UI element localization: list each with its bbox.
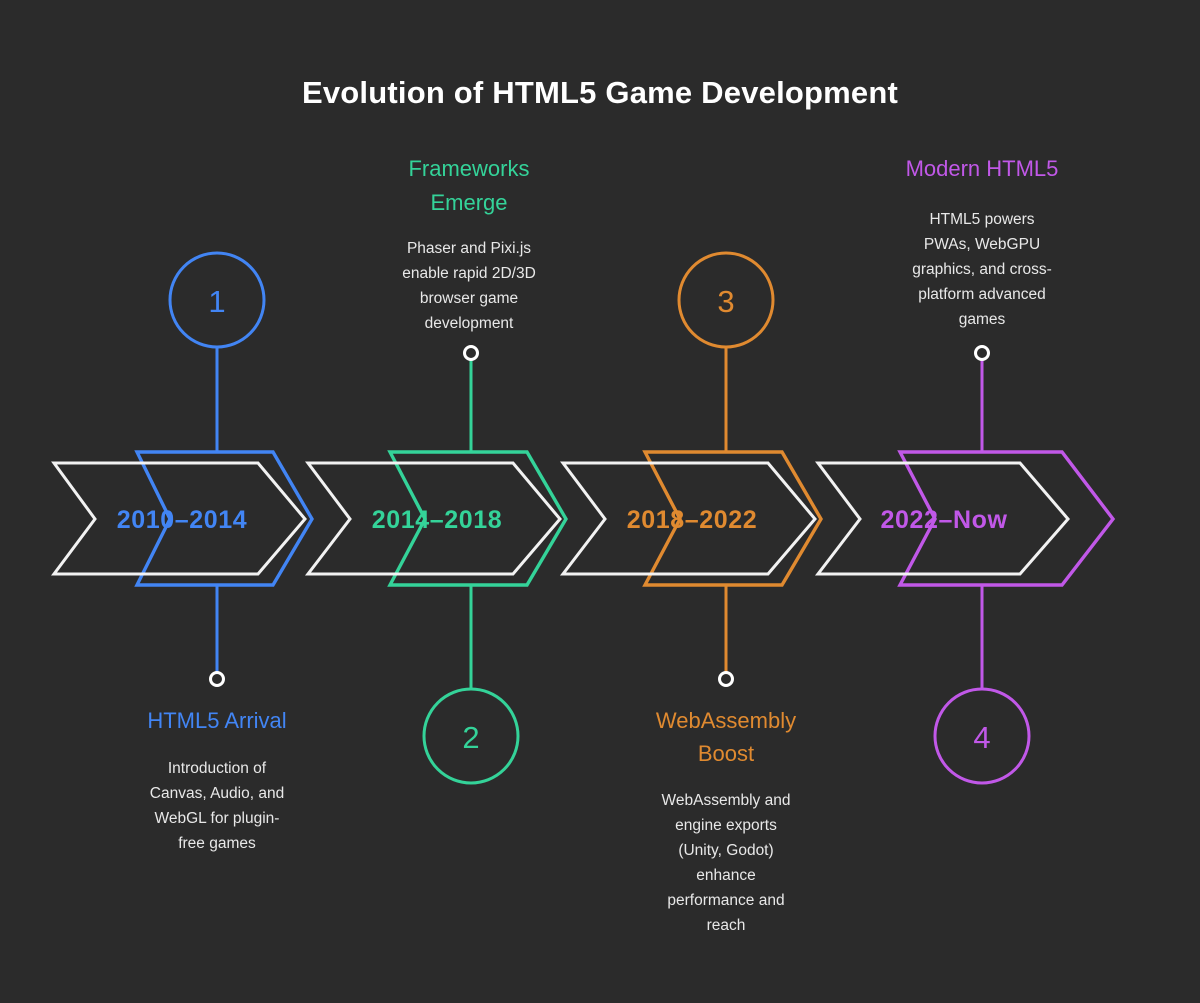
milestone-title-line-3-0: WebAssembly [656,708,796,733]
milestone-desc-line-2-1: enable rapid 2D/3D [402,265,536,282]
milestone-desc-line-3-2: (Unity, Godot) [678,842,773,859]
connector-endpoint-marker-2 [465,347,478,360]
milestone-desc-line-3-5: reach [707,917,746,934]
milestone-desc-line-4-3: platform advanced [918,286,1046,303]
step-number-1: 1 [208,284,225,319]
milestone-title-line-3-1: Boost [698,741,754,766]
timeline-segment-2[interactable]: 2014–2018 Frameworks Emerge Phaser and P… [308,156,566,783]
milestone-desc-line-2-2: browser game [420,290,518,307]
timeline-segment-3[interactable]: 2018–2022 3 WebAssembly Boost WebAssembl… [563,253,821,934]
milestone-desc-line-2-3: development [425,315,514,332]
connector-endpoint-marker-4 [976,347,989,360]
step-number-2: 2 [462,720,479,755]
milestone-desc-line-1-2: WebGL for plugin- [155,810,280,827]
period-label-1: 2010–2014 [117,506,248,534]
milestone-title-1: HTML5 Arrival [147,708,286,733]
page-title: Evolution of HTML5 Game Development [302,75,898,110]
milestone-desc-line-3-0: WebAssembly and [662,792,791,809]
step-number-4: 4 [973,720,990,755]
milestone-desc-line-3-3: enhance [696,867,755,884]
connector-endpoint-marker-1 [211,673,224,686]
milestone-desc-line-1-0: Introduction of [168,760,267,777]
milestone-desc-line-4-2: graphics, and cross- [912,261,1052,278]
milestone-title-line-2-0: Frameworks [408,156,529,181]
period-label-2: 2014–2018 [372,506,503,534]
milestone-desc-line-4-1: PWAs, WebGPU [924,236,1040,253]
milestone-desc-line-3-4: performance and [667,892,784,909]
milestone-title-4: Modern HTML5 [906,156,1059,181]
step-number-3: 3 [717,284,734,319]
timeline-infographic: Evolution of HTML5 Game Development 2010… [0,0,1200,1003]
period-label-3: 2018–2022 [627,506,758,534]
milestone-title-line-2-1: Emerge [430,190,507,215]
milestone-desc-line-3-1: engine exports [675,817,777,834]
milestone-desc-line-4-0: HTML5 powers [929,211,1034,228]
connector-endpoint-marker-3 [720,673,733,686]
timeline-segment-1[interactable]: 2010–2014 1 HTML5 Arrival Introduction o… [54,253,312,852]
period-label-4: 2022–Now [880,506,1007,534]
milestone-desc-line-4-4: games [959,311,1006,328]
timeline-segment-4[interactable]: 2022–Now Modern HTML5 HTML5 powers PWAs,… [818,156,1113,783]
milestone-desc-line-1-3: free games [178,835,256,852]
milestone-desc-line-1-1: Canvas, Audio, and [150,785,284,802]
milestone-desc-line-2-0: Phaser and Pixi.js [407,240,531,257]
